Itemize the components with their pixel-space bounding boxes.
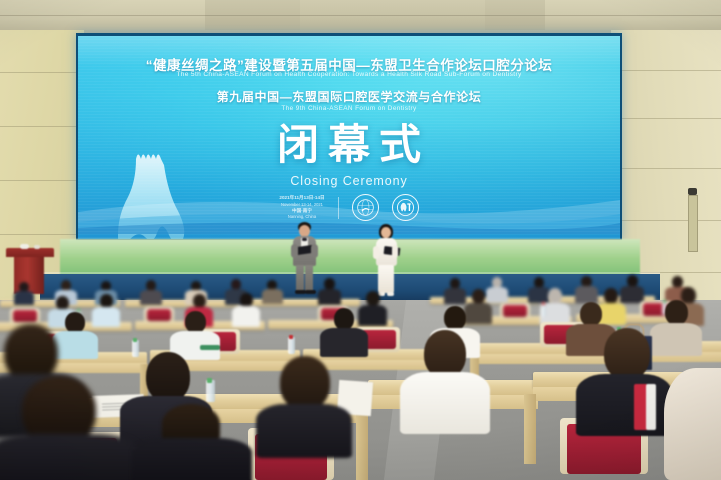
chair — [500, 303, 530, 319]
host-trousers — [378, 265, 394, 293]
host-arm — [373, 246, 379, 259]
attendee — [400, 330, 490, 430]
male-host — [288, 222, 322, 292]
attendee-body — [318, 289, 341, 305]
host-head — [381, 227, 391, 238]
attendee-head — [665, 300, 688, 325]
attendee — [14, 282, 34, 304]
host-bowtie — [302, 238, 307, 241]
wall-mounted-camera-icon — [688, 188, 697, 195]
chair-pad — [147, 309, 171, 321]
attendee-head — [580, 302, 602, 326]
wall-seam — [0, 72, 84, 73]
chair — [10, 308, 40, 324]
attendee-body — [664, 368, 721, 480]
wall-seam — [611, 118, 721, 119]
foreground-attendee — [0, 376, 140, 480]
screen-scanlines — [78, 36, 620, 239]
foreground-attendee — [132, 404, 252, 480]
bottle-cap — [133, 338, 137, 342]
attendee-jacket-stripe — [646, 384, 656, 430]
foreground-attendee — [256, 356, 352, 454]
attendee-body — [400, 372, 490, 434]
water-bottle — [288, 337, 295, 354]
attendee-head — [56, 296, 69, 310]
attendee-body — [262, 289, 283, 304]
attendee-body — [132, 438, 252, 480]
attendee-body — [320, 328, 368, 357]
attendee — [320, 308, 368, 356]
attendee-body — [140, 290, 162, 305]
podium-microphone-icon — [20, 244, 29, 249]
attendee-body — [0, 434, 140, 480]
podium-top — [6, 248, 54, 257]
led-screen: “健康丝绸之路”建设暨第五届中国—东盟卫生合作论坛口腔分论坛 The 5th C… — [78, 36, 620, 239]
attendee-head — [444, 306, 466, 330]
attendee-head — [100, 294, 113, 308]
auditorium-photo: “健康丝绸之路”建设暨第五届中国—东盟卫生合作论坛口腔分论坛 The 5th C… — [0, 0, 721, 480]
attendee-body — [575, 286, 598, 303]
wall-panel-fixture — [688, 195, 698, 252]
desk-leg — [524, 394, 536, 464]
attendee-head — [366, 291, 380, 306]
attendee — [262, 280, 283, 304]
attendee-head — [146, 352, 190, 402]
attendee-head — [185, 311, 206, 333]
podium-microphone-icon — [34, 245, 40, 249]
wall-seam — [0, 180, 84, 181]
attendee — [575, 276, 598, 303]
wall-seam — [611, 70, 721, 71]
attendee — [232, 293, 260, 326]
bottle-cap — [289, 335, 293, 339]
host-leg — [305, 265, 313, 291]
attendee-head — [424, 330, 466, 378]
attendee — [576, 328, 672, 432]
bottle-cap — [542, 302, 545, 305]
attendee-body — [256, 404, 352, 458]
attendee — [444, 278, 466, 303]
attendee-head — [240, 293, 253, 307]
attendee-body — [444, 288, 466, 304]
chair-pad — [503, 305, 527, 317]
attendee-shirt-stripe — [200, 345, 220, 350]
attendee-head — [334, 308, 354, 330]
ceiling — [0, 0, 721, 34]
host-arm — [291, 244, 298, 258]
female-host — [370, 224, 402, 296]
host-leg — [296, 265, 304, 291]
wall-seam — [0, 126, 84, 127]
chair-pad — [13, 310, 37, 322]
wall-seam — [611, 220, 721, 221]
wall-seam — [0, 234, 84, 235]
attendee-head — [193, 294, 206, 308]
attendee — [318, 278, 341, 304]
desk-leg — [356, 408, 368, 480]
host-shoe — [387, 292, 394, 296]
host-arm — [311, 244, 318, 258]
attendee-head — [548, 288, 562, 304]
attendee-body — [576, 374, 672, 436]
wall-seam — [611, 168, 721, 169]
attendee — [664, 368, 721, 480]
attendee — [140, 280, 162, 304]
attendee-head — [604, 328, 650, 380]
attendee-body — [14, 291, 34, 305]
attendee-body — [232, 306, 260, 327]
attendee-head — [472, 289, 485, 304]
water-bottle — [541, 304, 546, 317]
host-arm — [392, 245, 398, 258]
host-shoe — [305, 290, 316, 294]
ceiling-seam — [0, 15, 721, 16]
attendee-head — [280, 356, 330, 410]
